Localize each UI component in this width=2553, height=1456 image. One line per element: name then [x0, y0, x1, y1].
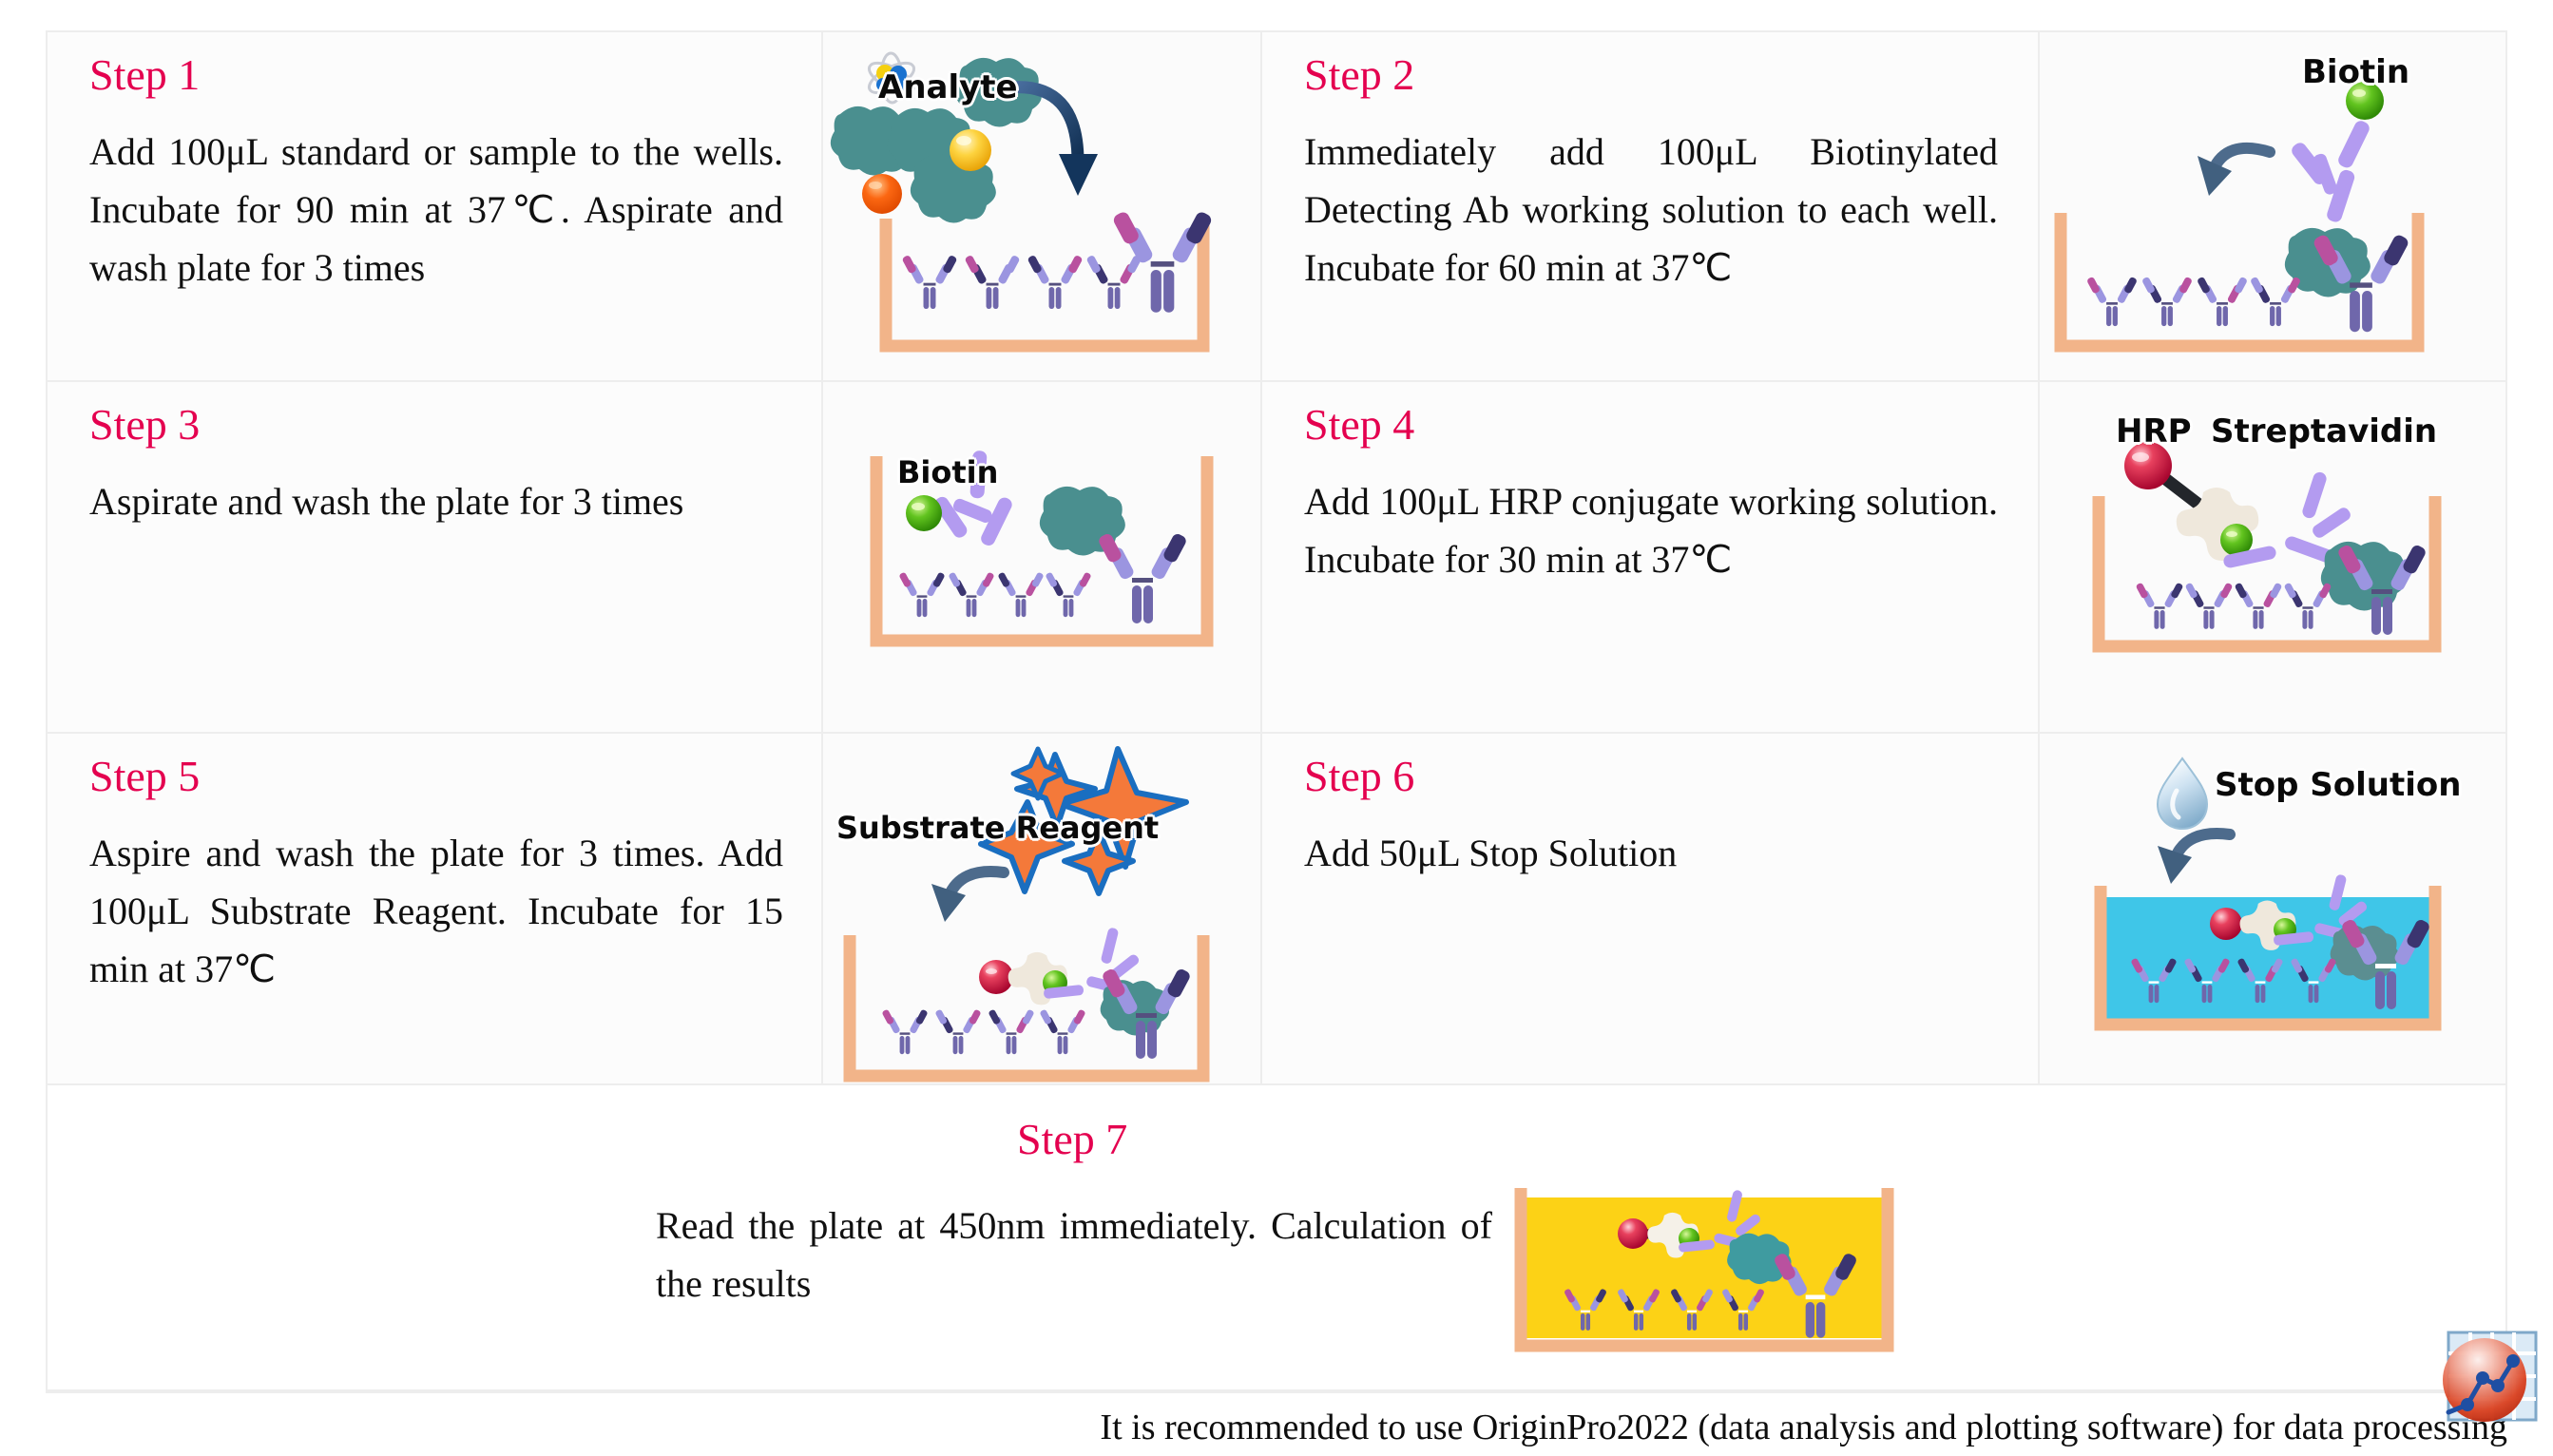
step-1-figure-cell: Analyte — [823, 30, 1262, 382]
hrp-sphere — [979, 960, 1013, 994]
analyte-label: Analyte — [878, 68, 1018, 106]
step-4-figure-cell: HRP Streptavidin — [2040, 382, 2507, 734]
step-2-text-cell: Step 2 Immediately add 100μL Biotinylate… — [1262, 30, 2040, 382]
step-2-figure-cell: Biotin — [2040, 30, 2507, 382]
capture-antibody-row — [2086, 277, 2301, 326]
orange-sphere — [862, 174, 902, 214]
step-2-illustration — [2040, 32, 2505, 380]
capture-antibody-row — [898, 572, 1091, 618]
step-3-title: Step 3 — [89, 403, 200, 447]
step-5-title: Step 5 — [89, 755, 200, 798]
step-4-body: Add 100μL HRP conjugate working solution… — [1304, 473, 1998, 589]
capture-antibody-row — [2136, 583, 2332, 629]
step-3-figure-cell: Biotin — [823, 382, 1262, 734]
step-6-text-cell: Step 6 Add 50μL Stop Solution — [1262, 734, 2040, 1085]
step-5-figure-cell: Substrate Reagent — [823, 734, 1262, 1085]
steps-grid: Step 1 Add 100μL standard or sample to t… — [46, 30, 2507, 1391]
water-drop-icon — [2158, 758, 2207, 829]
hrp-sphere — [2210, 908, 2242, 940]
yellow-sphere — [950, 129, 991, 171]
step-2-title: Step 2 — [1304, 53, 1414, 97]
arrow-curve-icon — [931, 872, 1004, 922]
originpro-logo — [2437, 1325, 2547, 1437]
step-4-title: Step 4 — [1304, 403, 1414, 447]
capture-antibody-large — [1097, 532, 1188, 623]
final-well-fill — [1526, 1197, 1882, 1338]
hrp-sphere — [1618, 1218, 1648, 1249]
step-5-text-cell: Step 5 Aspire and wash the plate for 3 t… — [46, 734, 823, 1085]
step-3-text-cell: Step 3 Aspirate and wash the plate for 3… — [46, 382, 823, 734]
step-3-body: Aspirate and wash the plate for 3 times — [89, 473, 783, 531]
step-6-body: Add 50μL Stop Solution — [1304, 825, 1998, 883]
footer-note: It is recommended to use OriginPro2022 (… — [1100, 1407, 2507, 1448]
microplate-well — [886, 210, 1213, 346]
hrp-label: HRP — [2116, 412, 2192, 450]
step-7-title: Step 7 — [1017, 1118, 1127, 1161]
capture-antibody-row — [902, 255, 1142, 309]
substrate-reagent-label: Substrate Reagent — [836, 810, 1159, 846]
step-4-text-cell: Step 4 Add 100μL HRP conjugate working s… — [1262, 382, 2040, 734]
microplate-well — [2061, 213, 2418, 346]
microplate-well — [2101, 873, 2435, 1025]
biotinylated-detecting-antibody — [2273, 102, 2372, 224]
sparkle-star — [1061, 749, 1186, 867]
streptavidin-label: Streptavidin — [2211, 412, 2437, 450]
step-1-body: Add 100μL standard or sample to the well… — [89, 124, 783, 297]
step-2-body: Immediately add 100μL Biotinylated Detec… — [1304, 124, 1998, 297]
biotin-label-step2: Biotin — [2302, 53, 2409, 91]
footer: It is recommended to use OriginPro2022 (… — [0, 1393, 2553, 1456]
step-7-body: Read the plate at 450nm immediately. Cal… — [656, 1197, 1492, 1313]
step-5-body: Aspire and wash the plate for 3 times. A… — [89, 825, 783, 998]
step-1-text-cell: Step 1 Add 100μL standard or sample to t… — [46, 30, 823, 382]
step-6-figure-cell: Stop Solution — [2040, 734, 2507, 1085]
step-5-illustration — [823, 734, 1260, 1083]
footer-divider — [46, 1391, 2507, 1393]
step-3-illustration — [823, 382, 1260, 732]
arrow-curve-icon — [2198, 148, 2270, 196]
microplate-well-final — [1521, 1188, 1888, 1346]
capture-antibody-row — [881, 1009, 1085, 1055]
step-1-title: Step 1 — [89, 53, 200, 97]
step-7-illustration — [1511, 1180, 1910, 1375]
biotin-label-step3: Biotin — [897, 454, 998, 490]
arrow-curve-icon — [2158, 833, 2230, 884]
elisa-protocol-page: Step 1 Add 100μL standard or sample to t… — [0, 0, 2553, 1456]
biotin-sphere — [906, 495, 942, 531]
microplate-well — [850, 927, 1203, 1076]
stop-solution-label: Stop Solution — [2215, 766, 2461, 804]
step-6-title: Step 6 — [1304, 755, 1414, 798]
microplate-well — [2099, 442, 2435, 646]
step-7-cell: Step 7 Read the plate at 450nm immediate… — [46, 1085, 2507, 1391]
